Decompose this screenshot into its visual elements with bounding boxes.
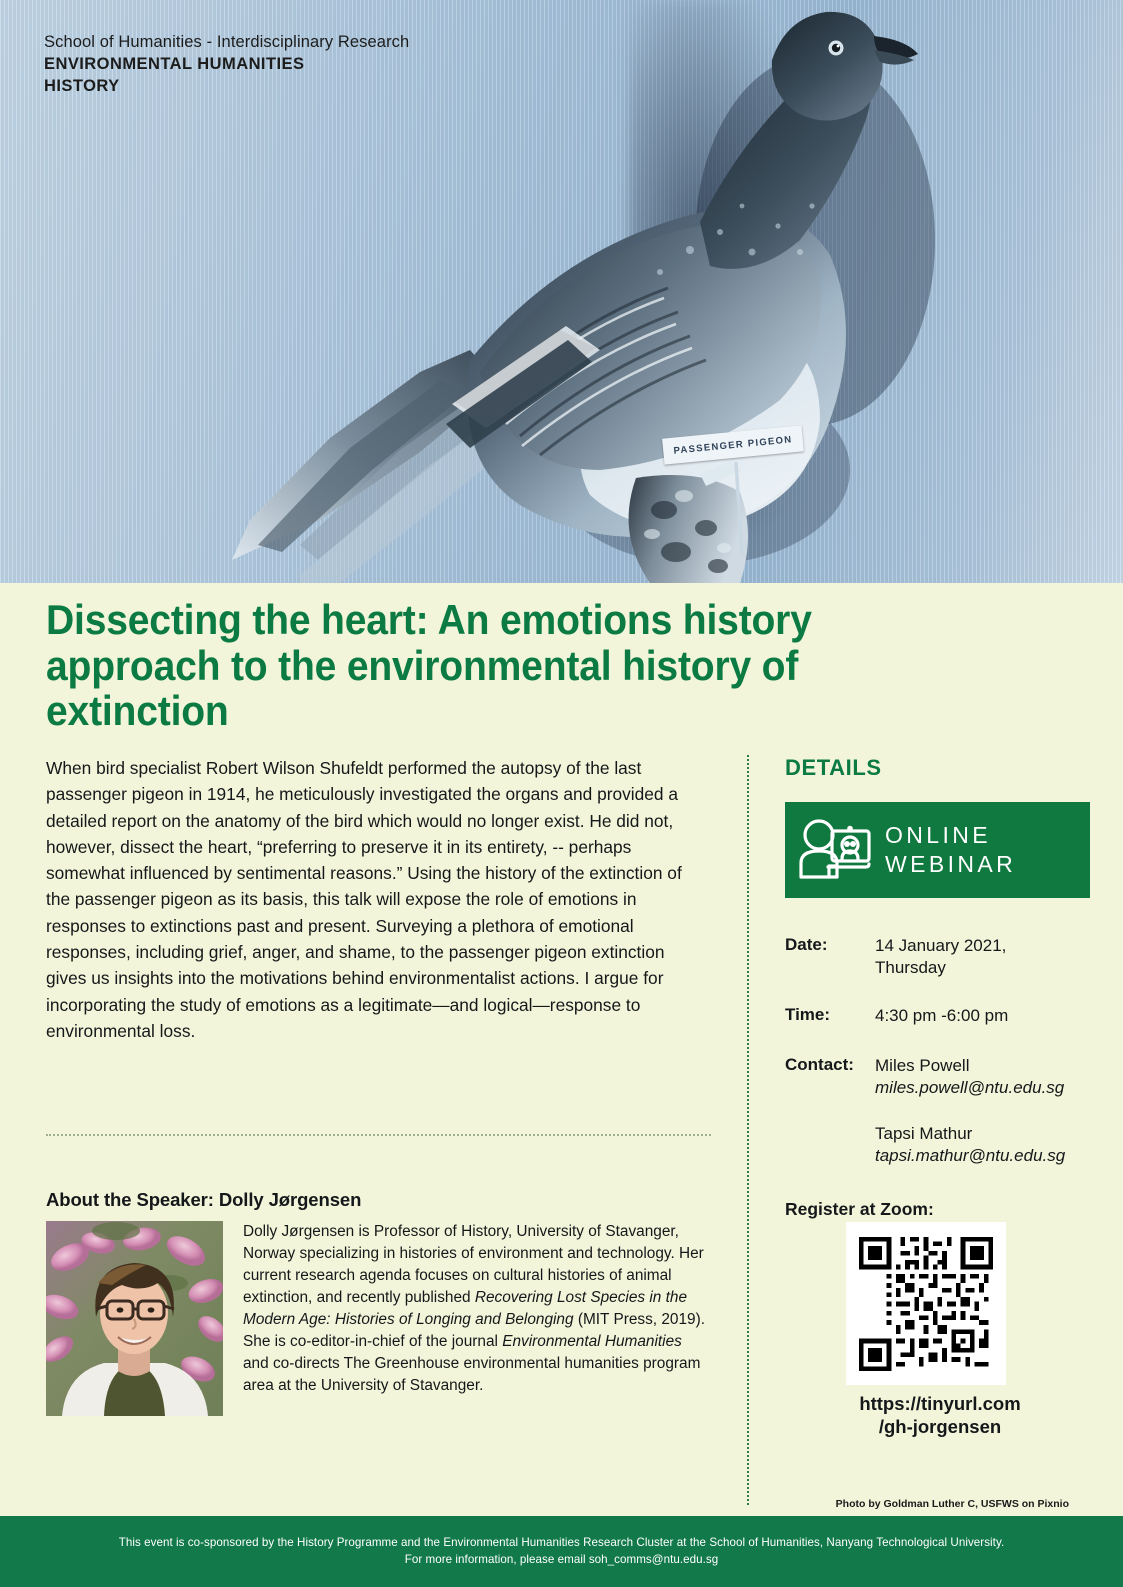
registration-url-line2: /gh-jorgensen bbox=[785, 1415, 1095, 1438]
contact-1-name: Miles Powell bbox=[875, 1056, 969, 1075]
date-value-line2: Thursday bbox=[875, 958, 946, 977]
date-value-line1: 14 January 2021, bbox=[875, 936, 1006, 955]
institution-header: School of Humanities - Interdisciplinary… bbox=[44, 32, 409, 97]
contact-label: Contact: bbox=[785, 1055, 854, 1075]
date-value: 14 January 2021, Thursday bbox=[875, 935, 1006, 979]
date-label: Date: bbox=[785, 935, 828, 955]
school-line: School of Humanities - Interdisciplinary… bbox=[44, 32, 409, 54]
bio-journal-title: Environmental Humanities bbox=[502, 1333, 682, 1350]
vertical-dotted-divider bbox=[747, 755, 749, 1505]
online-webinar-badge: ONLINE WEBINAR bbox=[785, 802, 1090, 898]
webcam-person-icon bbox=[785, 819, 885, 881]
time-label: Time: bbox=[785, 1005, 830, 1025]
contact-2-name: Tapsi Mathur bbox=[875, 1124, 972, 1143]
event-abstract: When bird specialist Robert Wilson Shufe… bbox=[46, 755, 696, 1044]
programme-line-environmental-humanities: ENVIRONMENTAL HUMANITIES bbox=[44, 54, 409, 76]
specimen-tag-text: PASSENGER PIGEON bbox=[673, 434, 793, 456]
photo-credit: Photo by Goldman Luther C, USFWS on Pixn… bbox=[0, 1498, 1069, 1510]
footer-line-1: This event is co-sponsored by the Histor… bbox=[119, 1535, 1004, 1552]
webinar-line-2: WEBINAR bbox=[885, 850, 1016, 879]
contact-2-value: Tapsi Mathur tapsi.mathur@ntu.edu.sg bbox=[875, 1123, 1065, 1167]
footer-line-2: For more information, please email soh_c… bbox=[405, 1552, 719, 1569]
registration-url-line1: https://tinyurl.com bbox=[785, 1392, 1095, 1415]
programme-line-history: HISTORY bbox=[44, 76, 409, 98]
speaker-bio: Dolly Jørgensen is Professor of History,… bbox=[243, 1221, 709, 1397]
contact-1-email[interactable]: miles.powell@ntu.edu.sg bbox=[875, 1077, 1064, 1099]
webinar-line-1: ONLINE bbox=[885, 821, 1016, 850]
time-value: 4:30 pm -6:00 pm bbox=[875, 1005, 1008, 1027]
footer-banner: This event is co-sponsored by the Histor… bbox=[0, 1516, 1123, 1587]
speaker-heading: About the Speaker: Dolly Jørgensen bbox=[46, 1189, 361, 1211]
event-title: Dissecting the heart: An emotions histor… bbox=[46, 597, 864, 734]
registration-url[interactable]: https://tinyurl.com /gh-jorgensen bbox=[785, 1392, 1095, 1439]
contact-1-value: Miles Powell miles.powell@ntu.edu.sg bbox=[875, 1055, 1064, 1099]
bio-part-4: and co-directs The Greenhouse environmen… bbox=[243, 1355, 700, 1394]
contact-2-email[interactable]: tapsi.mathur@ntu.edu.sg bbox=[875, 1145, 1065, 1167]
hero-photo: PASSENGER PIGEON School of Humanities - … bbox=[0, 0, 1123, 583]
details-section-label: DETAILS bbox=[785, 755, 882, 781]
register-at-zoom-label: Register at Zoom: bbox=[785, 1199, 934, 1220]
speaker-portrait bbox=[46, 1221, 223, 1416]
webinar-badge-text: ONLINE WEBINAR bbox=[885, 821, 1016, 880]
zoom-registration-qr-code[interactable] bbox=[846, 1222, 1006, 1385]
horizontal-dotted-divider bbox=[46, 1134, 711, 1136]
